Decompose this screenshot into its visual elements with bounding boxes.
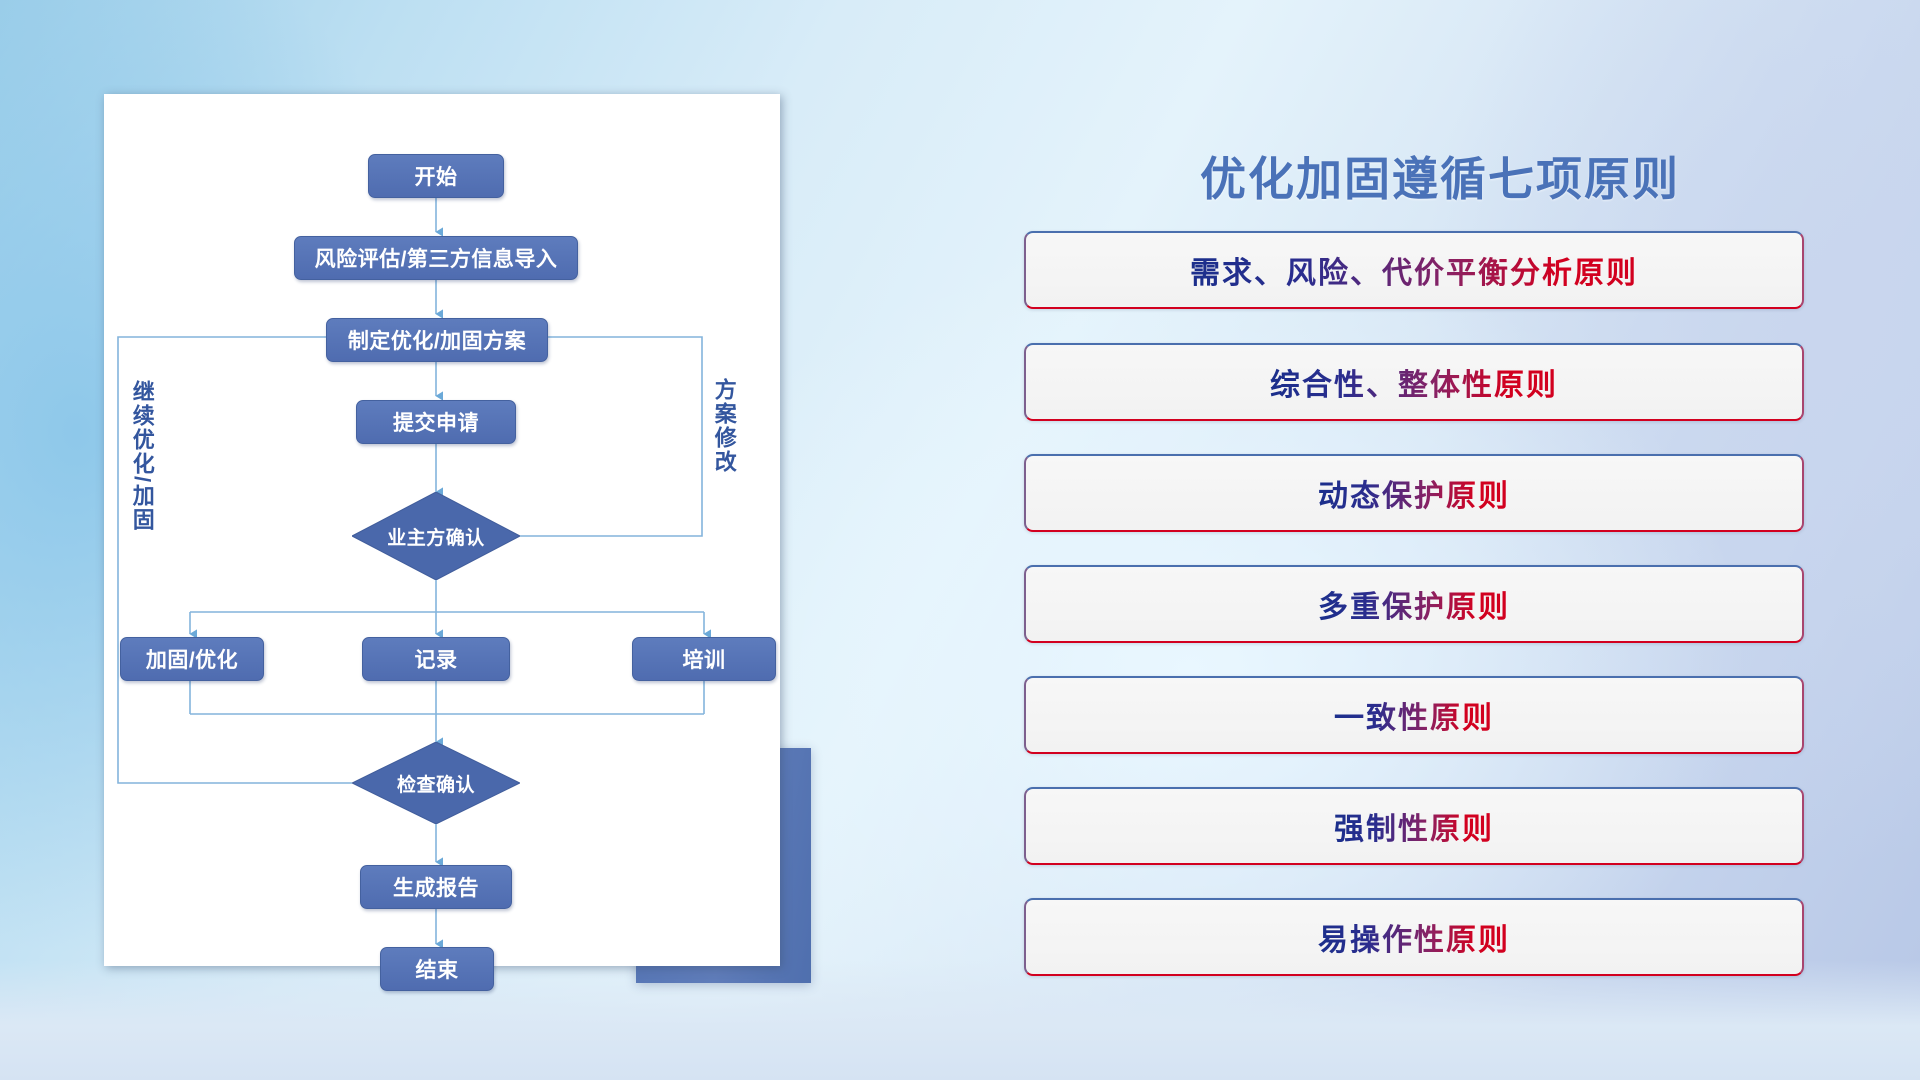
flowchart-card: 开始 风险评估/第三方信息导入 制定优化/加固方案 提交申请 业主方确认 加固/…: [104, 94, 780, 966]
principle-label: 一致性原则: [1334, 693, 1494, 737]
principle-item-6[interactable]: 强制性原则: [1024, 787, 1804, 865]
flow-node-label: 加固/优化: [146, 644, 238, 674]
page-title: 优化加固遵循七项原则: [1040, 143, 1840, 209]
principle-item-1[interactable]: 需求、风险、代价平衡分析原则: [1024, 231, 1804, 309]
flow-node-reinforce-optimize[interactable]: 加固/优化: [120, 637, 264, 681]
flow-node-label: 结束: [416, 954, 459, 984]
flow-node-start[interactable]: 开始: [368, 154, 504, 198]
principle-item-2[interactable]: 综合性、整体性原则: [1024, 343, 1804, 421]
flow-node-label: 生成报告: [393, 872, 479, 902]
flow-node-risk-assessment[interactable]: 风险评估/第三方信息导入: [294, 236, 578, 280]
principle-item-4[interactable]: 多重保护原则: [1024, 565, 1804, 643]
principle-item-7[interactable]: 易操作性原则: [1024, 898, 1804, 976]
flow-node-generate-report[interactable]: 生成报告: [360, 865, 512, 909]
principle-item-3[interactable]: 动态保护原则: [1024, 454, 1804, 532]
principle-label: 综合性、整体性原则: [1270, 360, 1558, 404]
slide-background-bottom-band: [0, 960, 1920, 1080]
flow-node-record[interactable]: 记录: [362, 637, 510, 681]
flow-node-label: 记录: [415, 644, 458, 674]
flow-node-label: 制定优化/加固方案: [348, 325, 526, 355]
flow-node-plan[interactable]: 制定优化/加固方案: [326, 318, 548, 362]
flow-node-check-confirm[interactable]: 检查确认: [352, 742, 520, 824]
flow-node-label: 风险评估/第三方信息导入: [315, 243, 558, 273]
edge-label-plan-revision: 方案修改: [712, 378, 736, 474]
principle-label: 需求、风险、代价平衡分析原则: [1190, 248, 1638, 292]
flow-node-end[interactable]: 结束: [380, 947, 494, 991]
flow-node-label: 检查确认: [397, 770, 475, 797]
principle-label: 强制性原则: [1334, 804, 1494, 848]
flow-node-label: 培训: [683, 644, 726, 674]
flow-node-training[interactable]: 培训: [632, 637, 776, 681]
principle-label: 易操作性原则: [1318, 915, 1510, 959]
principle-label: 多重保护原则: [1318, 582, 1510, 626]
principle-label: 动态保护原则: [1318, 471, 1510, 515]
flow-node-owner-confirm[interactable]: 业主方确认: [352, 492, 520, 580]
flow-node-label: 开始: [415, 161, 458, 191]
flow-node-label: 提交申请: [393, 407, 479, 437]
flow-node-label: 业主方确认: [387, 523, 485, 550]
edge-label-continue-optimize: 继续优化/加固: [130, 380, 154, 532]
flow-node-submit-application[interactable]: 提交申请: [356, 400, 516, 444]
principle-item-5[interactable]: 一致性原则: [1024, 676, 1804, 754]
